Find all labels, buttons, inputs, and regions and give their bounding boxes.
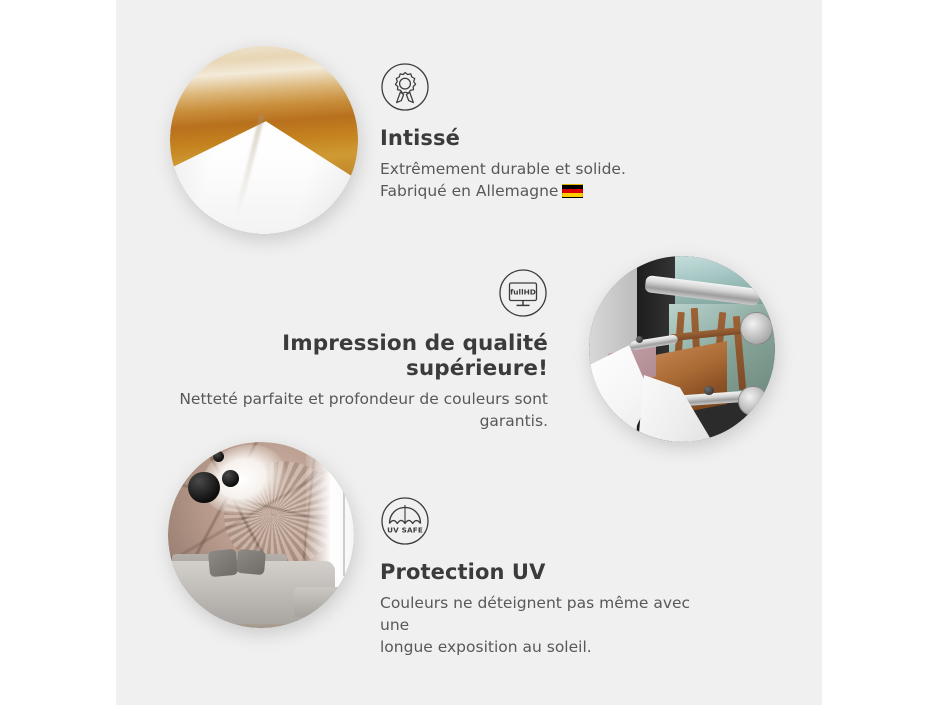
german-flag-icon <box>562 184 583 198</box>
feature-description: Extrêmement durable et solide. Fabriqué … <box>380 158 680 202</box>
fullhd-label: fullHD <box>510 287 536 296</box>
press-wheel <box>738 386 768 416</box>
feature-title: Intissé <box>380 126 680 150</box>
feature-title: Protection UV <box>380 560 720 584</box>
product-feature-infographic: Intissé Extrêmement durable et solide. F… <box>0 0 940 705</box>
feature-desc-line-2: longue exposition au soleil. <box>380 638 592 656</box>
feature-desc-line-1: Netteté parfaite et profondeur de couleu… <box>179 390 548 408</box>
feature-description: Netteté parfaite et profondeur de couleu… <box>170 388 548 432</box>
icon-wrap: fullHD <box>170 268 548 318</box>
feature-description: Couleurs ne déteignent pas même avec une… <box>380 592 720 658</box>
room-window-frame <box>343 453 345 576</box>
printing-press-machine-photo <box>589 256 775 442</box>
feature-uv-protection: UV SAFE Protection UV Couleurs ne déteig… <box>380 496 720 658</box>
award-rosette-icon <box>380 62 430 112</box>
room-cushion <box>236 549 266 576</box>
fleece-wallpaper-peeling-corner-photo <box>170 46 358 234</box>
uv-safe-label: UV SAFE <box>387 525 423 534</box>
room-cushion <box>208 549 238 577</box>
room-ottoman <box>294 587 346 617</box>
icon-wrap <box>380 62 680 112</box>
feature-desc-line-2: garantis. <box>480 412 548 430</box>
feature-desc-line-2: Fabriqué en Allemagne <box>380 182 558 200</box>
feature-desc-line-1: Extrêmement durable et solide. <box>380 160 626 178</box>
living-room-3d-mural-wallpaper-photo <box>168 442 354 628</box>
press-knob <box>704 386 713 395</box>
feature-desc-line-1: Couleurs ne déteignent pas même avec une <box>380 594 690 634</box>
room-pendant-lamp <box>222 470 239 487</box>
feature-title: Impression de qualité supérieure! <box>170 331 548 381</box>
feature-intisse: Intissé Extrêmement durable et solide. F… <box>380 62 680 202</box>
uv-safe-umbrella-icon: UV SAFE <box>380 496 430 546</box>
fullhd-monitor-icon: fullHD <box>498 268 548 318</box>
icon-wrap: UV SAFE <box>380 496 720 546</box>
feature-print-quality: fullHD Impression de qualité supérieure!… <box>170 268 548 432</box>
